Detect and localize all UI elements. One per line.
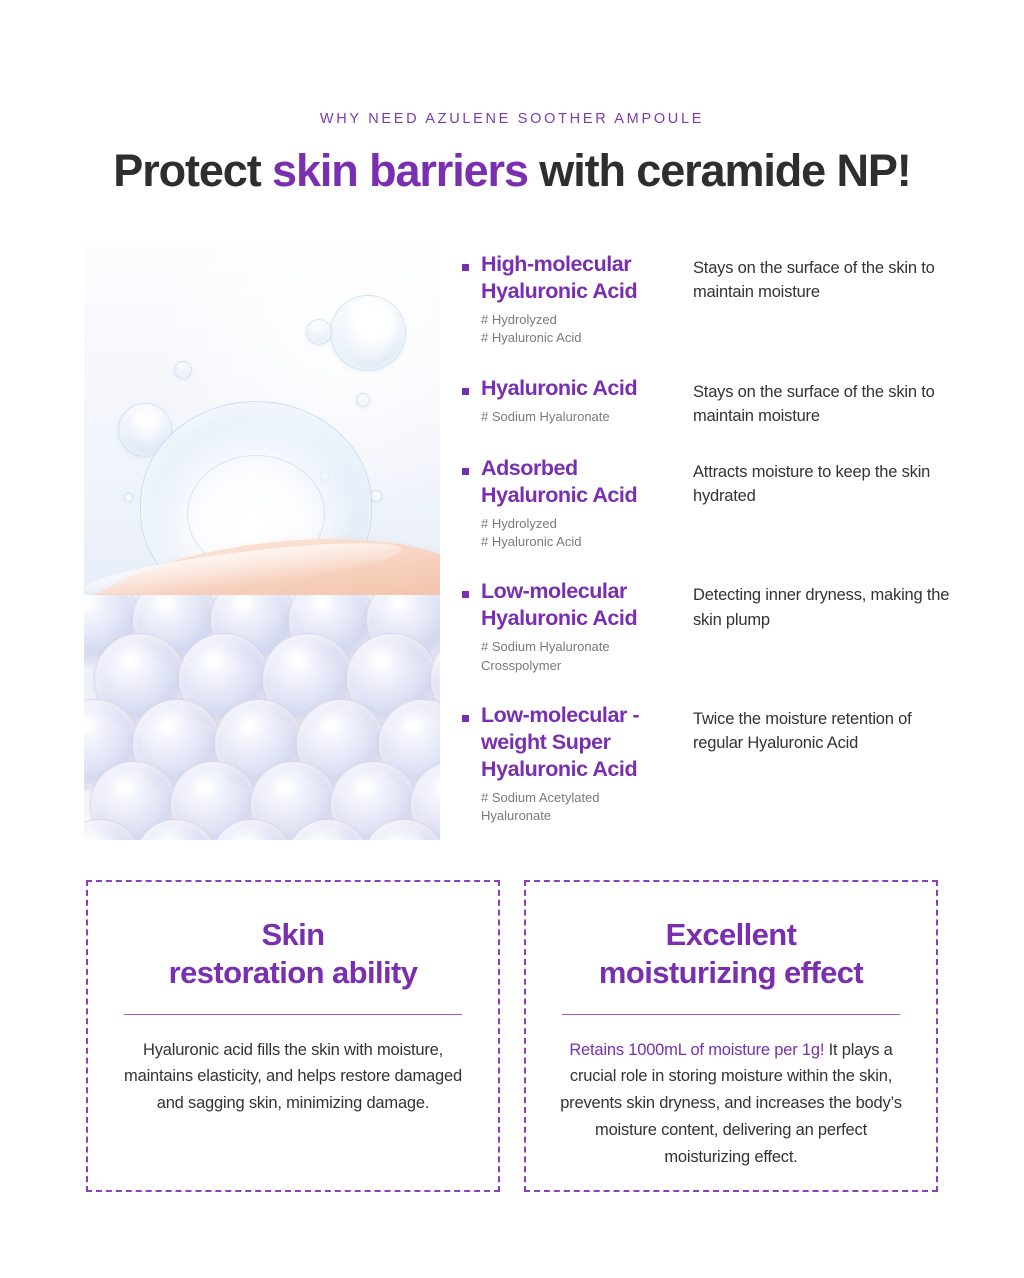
bubble-icon [330,295,406,371]
ingredient-description: Stays on the surface of the skin to main… [679,251,950,304]
bubble-icon [356,393,370,407]
ingredient-description: Stays on the surface of the skin to main… [679,375,950,428]
bullet-square-icon [462,591,469,598]
ingredient-description: Twice the moisture retention of regular … [679,702,950,755]
ingredient-list: High-molecular Hyaluronic Acid # Hydroly… [440,243,950,826]
ingredient-name: Hyaluronic Acid [481,375,679,402]
ingredient-name-column: Hyaluronic Acid # Sodium Hyaluronate [481,375,679,426]
ingredient-name-column: Low-molecular -weight Super Hyaluronic A… [481,702,679,826]
ingredient-name: Adsorbed Hyaluronic Acid [481,455,679,509]
ingredient-tags: # Sodium Hyaluronate [481,408,679,426]
benefit-title: Skin restoration ability [114,916,472,992]
product-illustration [84,243,440,840]
ingredient-tags: # Hydrolyzed # Hyaluronic Acid [481,311,679,348]
bullet-square-icon [462,264,469,271]
benefit-title: Excellent moisturizing effect [552,916,910,992]
bubble-icon [306,319,332,345]
bullet-square-icon [462,468,469,475]
ingredient-tags: # Hydrolyzed # Hyaluronic Acid [481,515,679,552]
benefit-divider [124,1014,462,1015]
ingredient-name-column: High-molecular Hyaluronic Acid # Hydroly… [481,251,679,348]
headline-part-1: Protect [113,145,272,196]
bubble-icon [124,493,133,502]
eyebrow-text: WHY NEED AZULENE SOOTHER AMPOULE [0,112,1024,127]
benefit-highlight: Retains 1000mL of moisture per 1g! [569,1041,824,1059]
ingredient-row: High-molecular Hyaluronic Acid # Hydroly… [462,251,950,348]
ingredient-description: Detecting inner dryness, making the skin… [679,578,950,631]
bullet-square-icon [462,388,469,395]
moisture-sphere-field [84,595,440,840]
page-header: WHY NEED AZULENE SOOTHER AMPOULE Protect… [0,0,1024,194]
ingredient-name: Low-molecular Hyaluronic Acid [481,578,679,632]
ingredient-tags: # Sodium Hyaluronate Crosspolymer [481,638,679,675]
ingredient-row: Adsorbed Hyaluronic Acid # Hydrolyzed # … [462,455,950,552]
ingredients-section: High-molecular Hyaluronic Acid # Hydroly… [84,243,950,843]
benefit-body: Retains 1000mL of moisture per 1g! It pl… [552,1037,910,1171]
ingredient-name: High-molecular Hyaluronic Acid [481,251,679,305]
bubble-icon [174,361,192,379]
page-title: Protect skin barriers with ceramide NP! [0,147,1024,195]
ingredient-name: Low-molecular -weight Super Hyaluronic A… [481,702,679,783]
benefit-divider [562,1014,900,1015]
ingredient-description: Attracts moisture to keep the skin hydra… [679,455,950,508]
ingredient-row: Low-molecular Hyaluronic Acid # Sodium H… [462,578,950,675]
headline-accent: skin barriers [272,145,528,196]
ingredient-row: Hyaluronic Acid # Sodium Hyaluronate Sta… [462,375,950,428]
ingredient-name-column: Low-molecular Hyaluronic Acid # Sodium H… [481,578,679,675]
benefits-section: Skin restoration ability Hyaluronic acid… [86,880,938,1192]
benefit-card-restoration: Skin restoration ability Hyaluronic acid… [86,880,500,1192]
bullet-square-icon [462,715,469,722]
ingredient-name-column: Adsorbed Hyaluronic Acid # Hydrolyzed # … [481,455,679,552]
benefit-body-text: Hyaluronic acid fills the skin with mois… [124,1041,462,1112]
ingredient-row: Low-molecular -weight Super Hyaluronic A… [462,702,950,826]
benefit-card-moisturizing: Excellent moisturizing effect Retains 10… [524,880,938,1192]
benefit-body-text: It plays a crucial role in storing moist… [560,1041,902,1166]
benefit-body: Hyaluronic acid fills the skin with mois… [114,1037,472,1117]
ingredient-tags: # Sodium Acetylated Hyaluronate [481,789,679,826]
headline-part-2: with ceramide NP! [528,145,911,196]
